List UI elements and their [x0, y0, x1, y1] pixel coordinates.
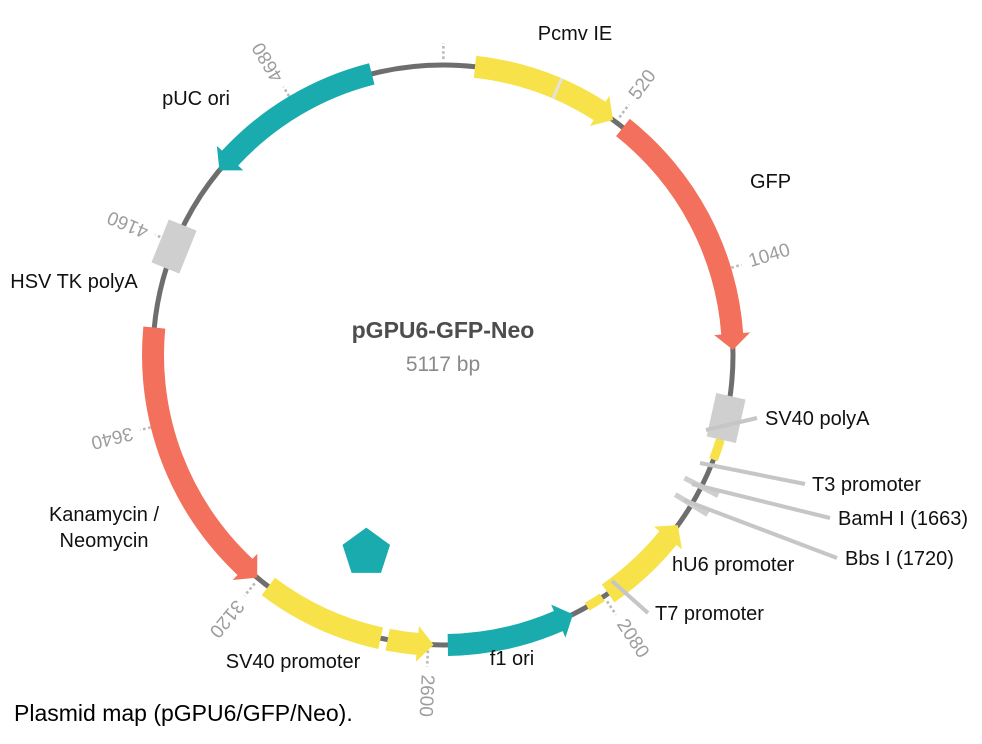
tick-label: 2080 [612, 615, 653, 662]
plasmid-size: 5117 bp [406, 353, 480, 376]
feature-label-bbs-i-site: Bbs I (1720) [845, 548, 954, 570]
feature-label-sv40-polya: SV40 polyA [765, 408, 870, 430]
feature-label-sv40-promoter: SV40 promoter [226, 651, 361, 673]
feature-label-line: GFP [750, 171, 791, 193]
feature-label-line: f1 ori [490, 648, 534, 670]
feature-gfp[interactable] [616, 119, 750, 350]
plasmid-diagram: 5201040208026003120364041604680 Pcmv IEG… [0, 0, 982, 744]
tick-label: 2600 [415, 674, 438, 717]
feature-label-line: BamH I (1663) [838, 508, 968, 530]
tick-3120: 3120 [205, 583, 255, 641]
feature-label-bamh-i-site: BamH I (1663) [838, 508, 968, 530]
leader-line-bbs-i-site [684, 500, 837, 558]
figure-caption: Plasmid map (pGPU6/GFP/Neo). [14, 700, 353, 727]
tick-label: 4160 [104, 206, 151, 242]
feature-label-line: hU6 promoter [672, 554, 795, 576]
feature-label-line: SV40 promoter [226, 651, 361, 673]
plasmid-map-figure: 5201040208026003120364041604680 Pcmv IEG… [0, 0, 982, 744]
feature-label-line: pUC ori [162, 88, 230, 110]
tick-1040: 1040 [726, 240, 792, 272]
feature-t3-promoter[interactable] [709, 438, 724, 461]
feature-label-line: Bbs I (1720) [845, 548, 954, 570]
feature-label-t3-promoter: T3 promoter [812, 474, 921, 496]
feature-label-pcmv-ie: Pcmv IE [538, 23, 612, 45]
feature-hu6-promoter[interactable] [602, 525, 682, 602]
tick-label: 1040 [746, 240, 793, 272]
feature-label-line: Pcmv IE [538, 23, 612, 45]
feature-kanamycin-neomycin[interactable] [142, 326, 257, 580]
feature-label-puc-ori: pUC ori [162, 88, 230, 110]
tick-3640: 3640 [89, 422, 156, 453]
feature-label-gfp: GFP [750, 171, 791, 193]
feature-label-hu6-promoter: hU6 promoter [672, 554, 795, 576]
feature-label-line: HSV TK polyA [10, 271, 138, 293]
tick-520: 520 [619, 66, 660, 117]
feature-pcmv-ie[interactable] [474, 56, 613, 126]
feature-sv40-polya[interactable] [707, 393, 746, 443]
feature-label-kanamycin-neomycin: Kanamycin /Neomycin [49, 504, 159, 552]
feature-label-f1-ori: f1 ori [490, 648, 534, 670]
feature-label-line: T7 promoter [655, 603, 764, 625]
tick-label: 4680 [248, 39, 288, 86]
tick-label: 3120 [205, 596, 248, 642]
feature-puc-ori[interactable] [217, 63, 375, 170]
feature-hsv-tk-polya[interactable] [151, 219, 196, 273]
feature-label-line: Neomycin [60, 530, 149, 552]
leader-line-t3-promoter [700, 463, 805, 484]
feature-ori-marker[interactable] [343, 528, 391, 573]
tick-label: 520 [625, 66, 661, 104]
tick-2600: 2600 [415, 651, 438, 718]
feature-sv40-promoter[interactable] [262, 578, 383, 649]
feature-label-line: T3 promoter [812, 474, 921, 496]
feature-label-hsv-tk-polya: HSV TK polyA [10, 271, 138, 293]
leader-line-layer [612, 418, 837, 613]
tick-4160: 4160 [104, 206, 169, 242]
tick-4680: 4680 [248, 39, 291, 101]
plasmid-name: pGPU6-GFP-Neo [352, 317, 535, 343]
feature-label-line: Kanamycin / [49, 504, 159, 526]
feature-label-t7-promoter: T7 promoter [655, 603, 764, 625]
tick-label: 3640 [89, 422, 135, 453]
feature-label-line: SV40 polyA [765, 408, 870, 430]
